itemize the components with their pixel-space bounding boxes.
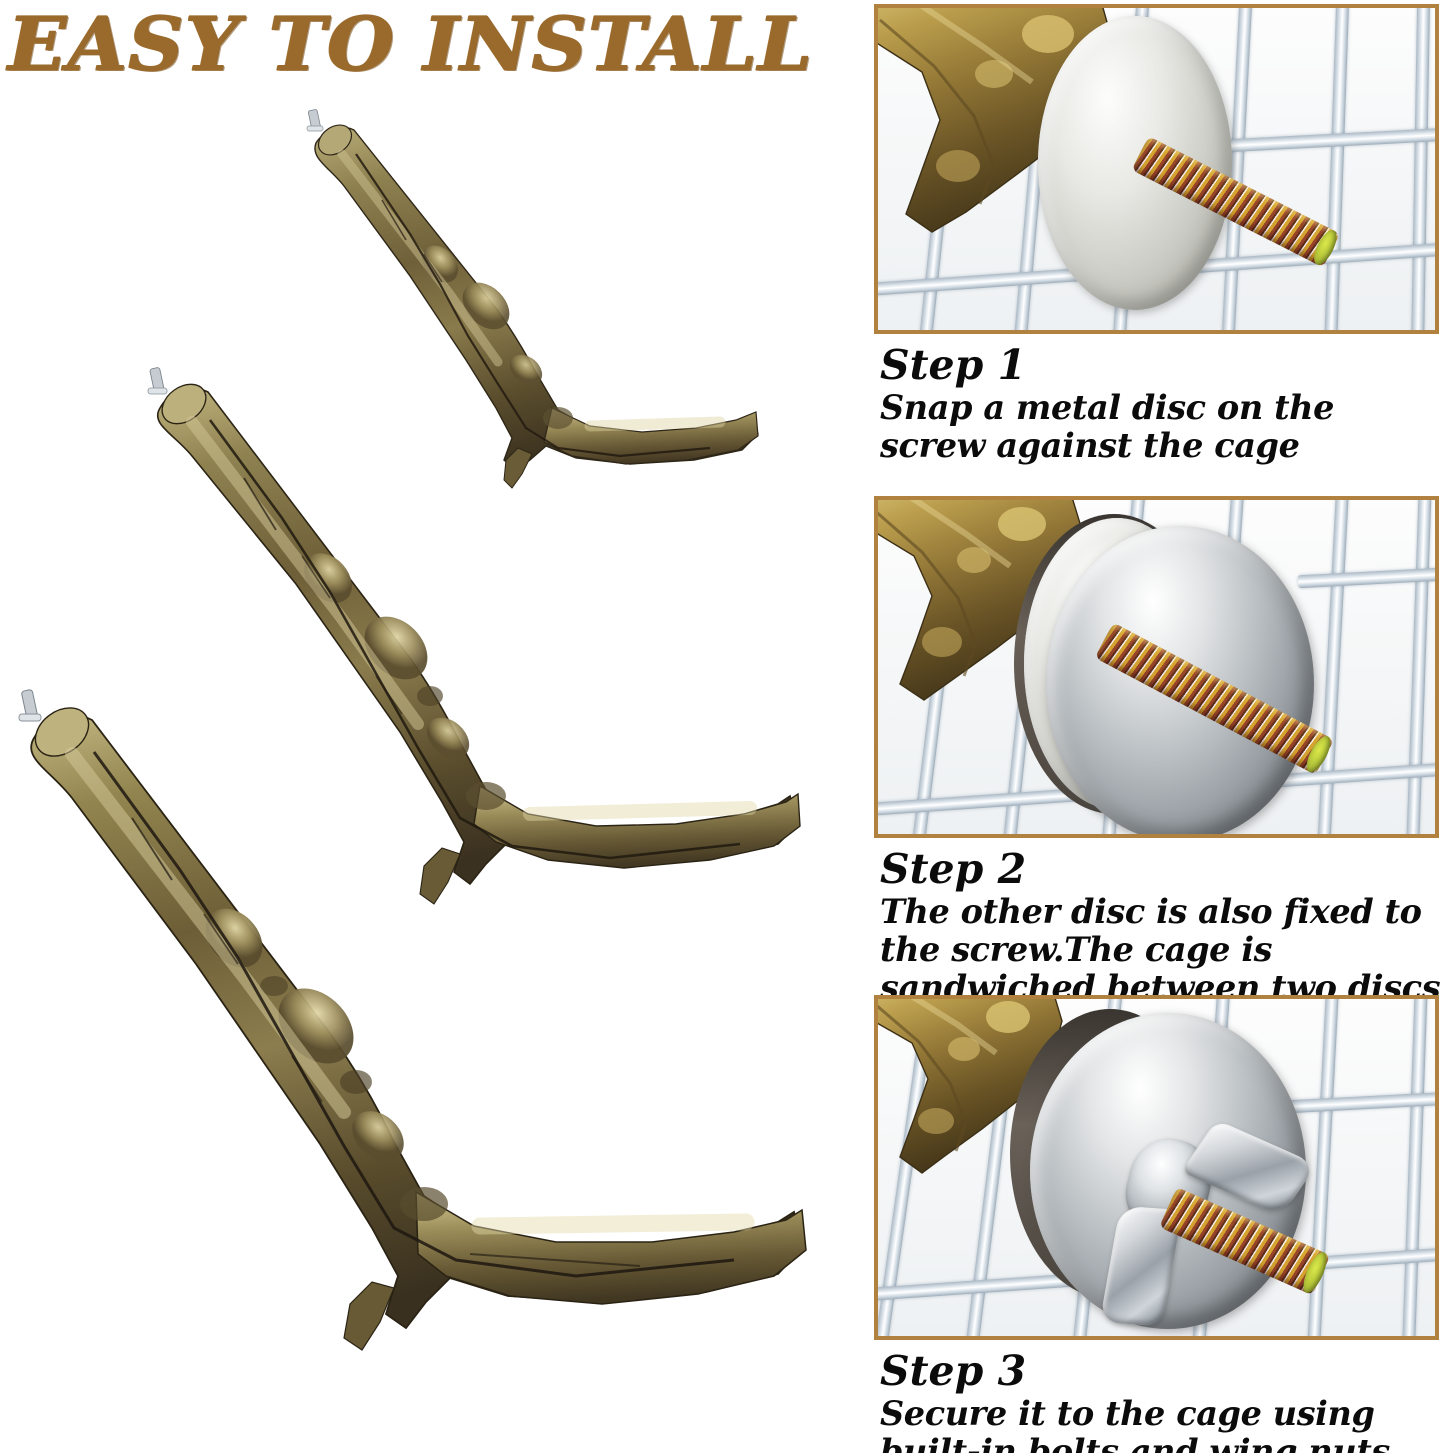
bolt-tip [1299, 1249, 1332, 1296]
step-2-heading: Step 2 [880, 848, 1441, 891]
infographic-root: EASY TO INSTALL [0, 0, 1445, 1453]
perch-bolt-small [307, 109, 323, 131]
step-block-1: Step 1 Snap a metal disc on the screw ag… [866, 4, 1445, 465]
cage-wire-vertical [1323, 8, 1349, 330]
cage-wire-vertical [1401, 999, 1428, 1336]
step-block-2: Step 2 The other disc is also fixed to t… [866, 496, 1445, 1007]
perch-bolt-medium [148, 367, 167, 394]
product-showcase [0, 88, 866, 1453]
step-3-heading: Step 3 [880, 1350, 1441, 1393]
installation-steps: Step 1 Snap a metal disc on the screw ag… [866, 0, 1445, 1453]
perch-large [0, 688, 860, 1448]
step-2-body: The other disc is also fixed to the scre… [880, 893, 1441, 1008]
cage-wire-vertical [1405, 500, 1432, 834]
step-1-caption: Step 1 Snap a metal disc on the screw ag… [866, 334, 1445, 465]
page-title: EASY TO INSTALL [8, 8, 813, 82]
step-1-photo [874, 4, 1439, 334]
step-2-caption: Step 2 The other disc is also fixed to t… [866, 838, 1445, 1007]
step-1-body: Snap a metal disc on the screw against t… [880, 389, 1441, 465]
page-title-banner: EASY TO INSTALL [8, 2, 860, 88]
step-1-heading: Step 1 [880, 344, 1441, 387]
step-2-photo [874, 496, 1439, 838]
perch-bolt-large [19, 689, 41, 721]
step-3-caption: Step 3 Secure it to the cage using built… [866, 1340, 1445, 1453]
step-3-body: Secure it to the cage using built-in bol… [880, 1395, 1441, 1453]
cage-wire-vertical [1411, 8, 1431, 330]
step-3-photo [874, 995, 1439, 1340]
step-block-3: Step 3 Secure it to the cage using built… [866, 995, 1445, 1453]
